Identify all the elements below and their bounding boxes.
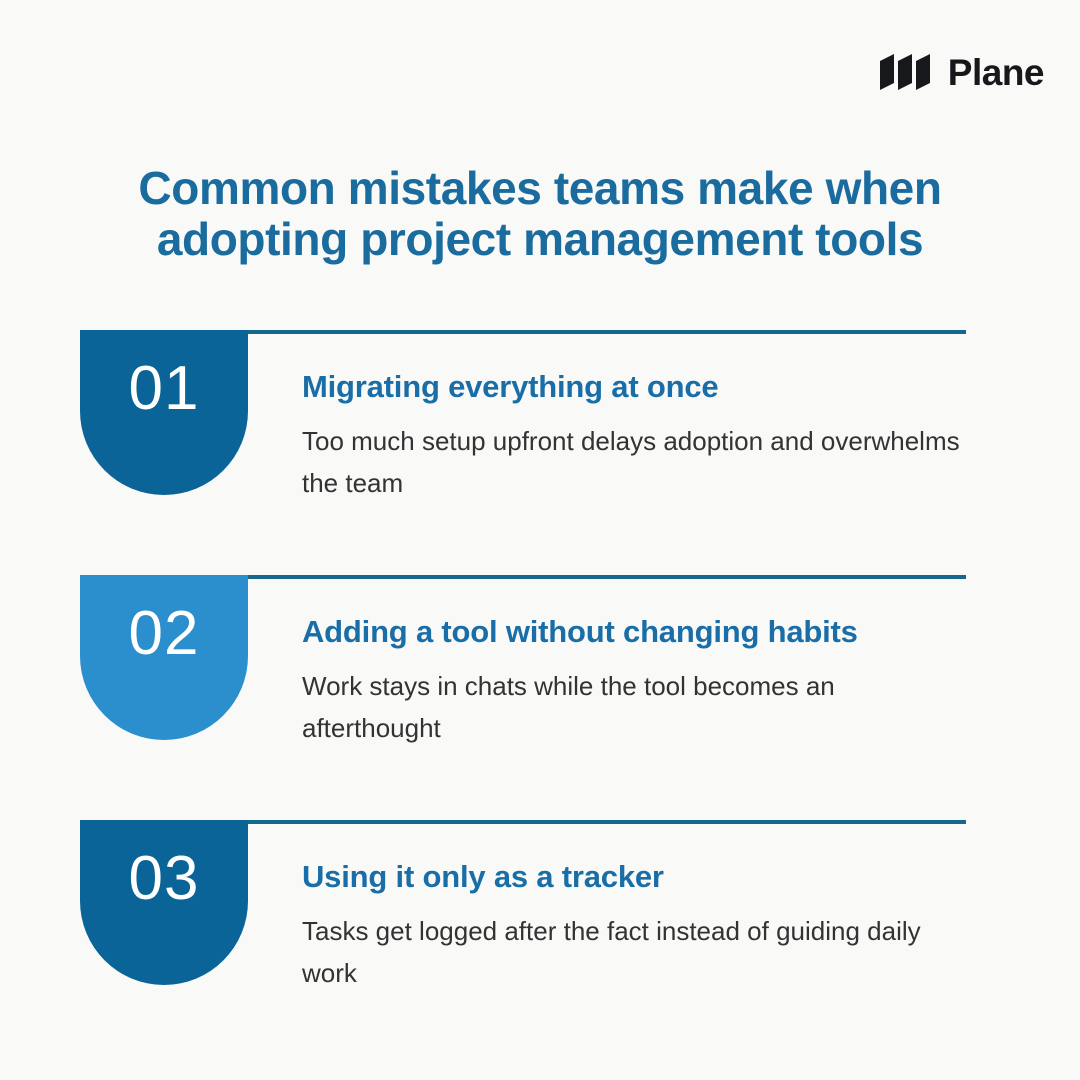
item-number: 01 bbox=[129, 358, 200, 420]
item-description: Too much setup upfront delays adoption a… bbox=[302, 421, 974, 504]
page-title: Common mistakes teams make when adopting… bbox=[0, 163, 1080, 266]
item-number-badge: 01 bbox=[80, 330, 248, 495]
item-description: Work stays in chats while the tool becom… bbox=[302, 666, 974, 749]
item-content: Adding a tool without changing habits Wo… bbox=[302, 613, 974, 749]
item-divider-rule bbox=[248, 575, 966, 579]
plane-logo-icon bbox=[878, 52, 934, 92]
item-divider-rule bbox=[248, 820, 966, 824]
list-item: 03 Using it only as a tracker Tasks get … bbox=[80, 820, 966, 1065]
mistakes-list: 01 Migrating everything at once Too much… bbox=[80, 330, 966, 1065]
list-item: 01 Migrating everything at once Too much… bbox=[80, 330, 966, 575]
item-divider-rule bbox=[248, 330, 966, 334]
item-number-badge: 02 bbox=[80, 575, 248, 740]
page-title-line-1: Common mistakes teams make when bbox=[100, 163, 980, 215]
infographic-canvas: Plane Common mistakes teams make when ad… bbox=[0, 0, 1080, 1080]
brand-lockup: Plane bbox=[878, 52, 1044, 92]
page-title-line-2: adopting project management tools bbox=[100, 214, 980, 266]
item-heading: Migrating everything at once bbox=[302, 368, 974, 405]
list-item: 02 Adding a tool without changing habits… bbox=[80, 575, 966, 820]
brand-name: Plane bbox=[948, 54, 1044, 91]
item-content: Migrating everything at once Too much se… bbox=[302, 368, 974, 504]
item-number-badge: 03 bbox=[80, 820, 248, 985]
item-number: 02 bbox=[129, 603, 200, 665]
item-content: Using it only as a tracker Tasks get log… bbox=[302, 858, 974, 994]
item-heading: Using it only as a tracker bbox=[302, 858, 974, 895]
item-description: Tasks get logged after the fact instead … bbox=[302, 911, 974, 994]
item-number: 03 bbox=[129, 848, 200, 910]
item-heading: Adding a tool without changing habits bbox=[302, 613, 974, 650]
